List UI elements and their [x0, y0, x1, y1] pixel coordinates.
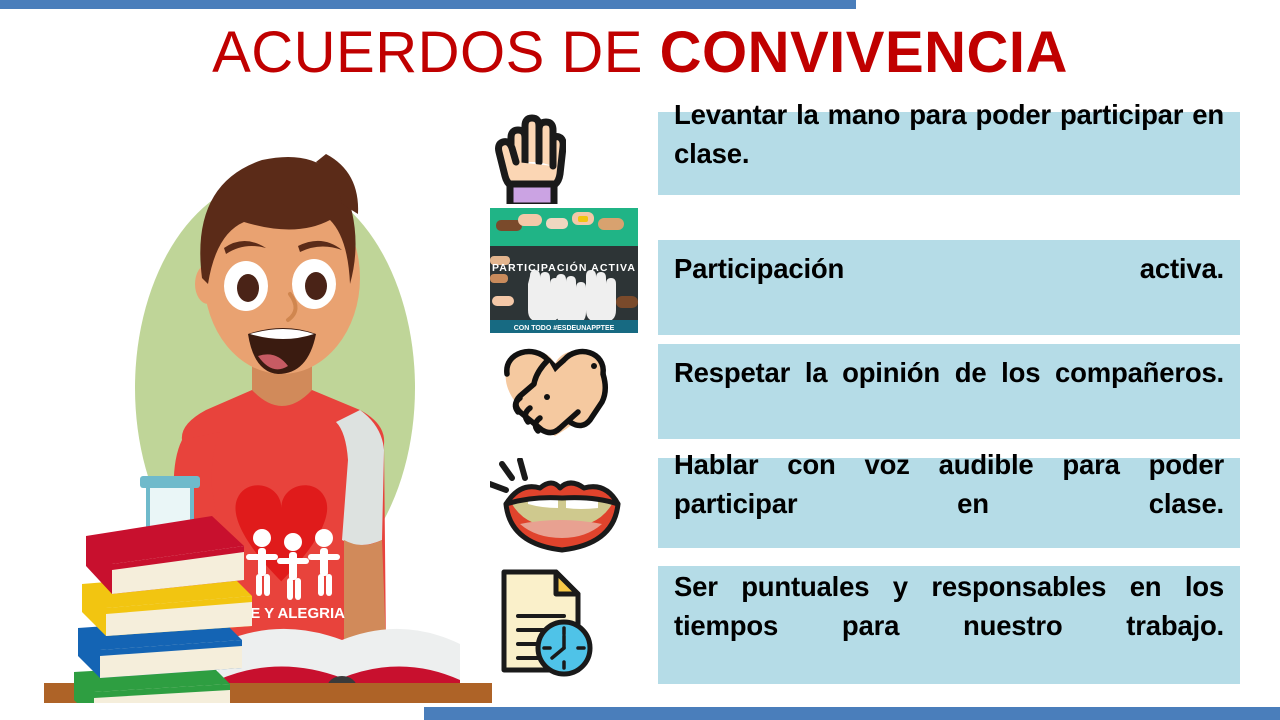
rule-text: Levantar la mano para poder participar e… — [674, 95, 1224, 212]
rule-text: Participación activa. — [674, 249, 1224, 327]
page-title-regular: ACUERDOS DE — [212, 20, 660, 85]
rule-text: Hablar con voz audible para poder partic… — [674, 445, 1224, 562]
participacion-activa-caption: PARTICIPACIÓN ACTIVA — [492, 261, 636, 274]
shirt-logo-line1: FE Y ALEGRIA — [241, 605, 345, 622]
handshake-heart-icon — [490, 340, 650, 440]
rules-list: Levantar la mano para poder participar e… — [490, 96, 1250, 696]
page-title: ACUERDOS DE CONVIVENCIA — [0, 22, 1280, 84]
rule-text-box: Respetar la opinión de los compañeros. — [658, 344, 1240, 439]
rule-text: Respetar la opinión de los compañeros. — [674, 353, 1224, 431]
rule-text-box: Levantar la mano para poder participar e… — [658, 112, 1240, 195]
rule-text-box: Ser puntuales y responsables en los tiem… — [658, 566, 1240, 684]
svg-text:CON TODO #ESDEUNAPPTEE: CON TODO #ESDEUNAPPTEE — [514, 325, 615, 332]
bottom-accent-bar — [424, 707, 1280, 720]
top-accent-bar — [0, 0, 856, 9]
document-clock-icon — [490, 566, 650, 678]
talking-mouth-icon — [490, 458, 650, 558]
raised-hand-icon — [490, 104, 650, 204]
rule-text: Ser puntuales y responsables en los tiem… — [674, 567, 1224, 684]
participacion-activa-image: PARTICIPACIÓN ACTIVA CON TODO #ESDEUNAPP… — [490, 208, 650, 333]
student-illustration: FE Y ALEGRIA 51 — [30, 88, 510, 703]
rule-text-box: Participación activa. — [658, 240, 1240, 335]
rule-text-box: Hablar con voz audible para poder partic… — [658, 458, 1240, 548]
page-title-bold: CONVIVENCIA — [660, 20, 1068, 85]
